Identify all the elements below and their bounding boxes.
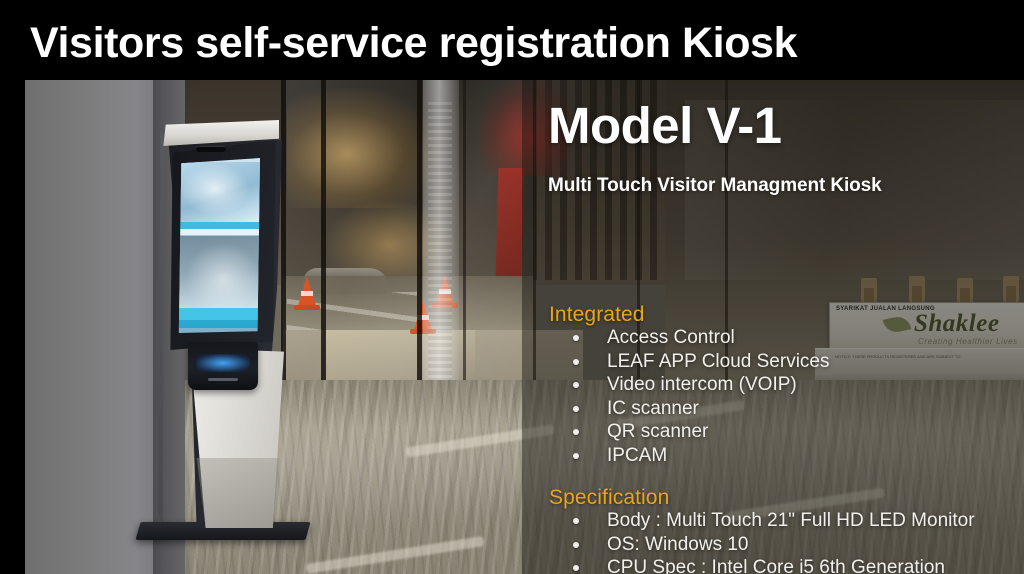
list-item: Video intercom (VOIP) [549, 373, 829, 397]
list-item: IPCAM [549, 444, 829, 468]
model-title: Model V-1 [548, 98, 782, 153]
list-item: IC scanner [549, 397, 829, 421]
screen-accent-band [178, 229, 260, 235]
list-item: LEAF APP Cloud Services [549, 350, 829, 374]
screen-image-top [178, 162, 260, 222]
screen-image-bottom [178, 236, 260, 308]
kiosk-pedestal-shade [172, 458, 284, 528]
list-item: Body : Multi Touch 21" Full HD LED Monit… [549, 509, 975, 533]
camera-icon [196, 146, 226, 152]
model-subtitle: Multi Touch Visitor Managment Kiosk [548, 174, 882, 197]
list-item: OS: Windows 10 [549, 533, 975, 557]
screen-accent-band [178, 320, 260, 328]
screen-accent-band [178, 222, 260, 229]
kiosk-touchscreen[interactable] [178, 158, 260, 333]
product-photo: SYARIKAT JUALAN LANGSUNG Shaklee Creatin… [25, 80, 1024, 574]
list-item: CPU Spec : Intel Core i5 6th Generation [549, 556, 975, 574]
specification-list: Body : Multi Touch 21" Full HD LED Monit… [549, 509, 975, 574]
slide-root: SYARIKAT JUALAN LANGSUNG Shaklee Creatin… [0, 0, 1024, 574]
scanner-light-icon [196, 354, 250, 372]
kiosk-unit [120, 110, 330, 555]
door-mullion [417, 80, 422, 410]
page-title: Visitors self-service registration Kiosk [30, 20, 797, 67]
title-band: Visitors self-service registration Kiosk [0, 0, 1024, 80]
section-heading-integrated: Integrated [549, 302, 645, 327]
info-panel: Model V-1 Multi Touch Visitor Managment … [522, 80, 1024, 574]
scanner-slot [208, 378, 238, 381]
document-scanner-module[interactable] [188, 342, 258, 390]
section-heading-specification: Specification [549, 485, 669, 510]
integrated-feature-list: Access Control LEAF APP Cloud Services V… [549, 326, 829, 467]
kiosk-body-edge [158, 130, 164, 528]
screen-accent-band [178, 308, 260, 320]
list-item: QR scanner [549, 420, 829, 444]
list-item: Access Control [549, 326, 829, 350]
